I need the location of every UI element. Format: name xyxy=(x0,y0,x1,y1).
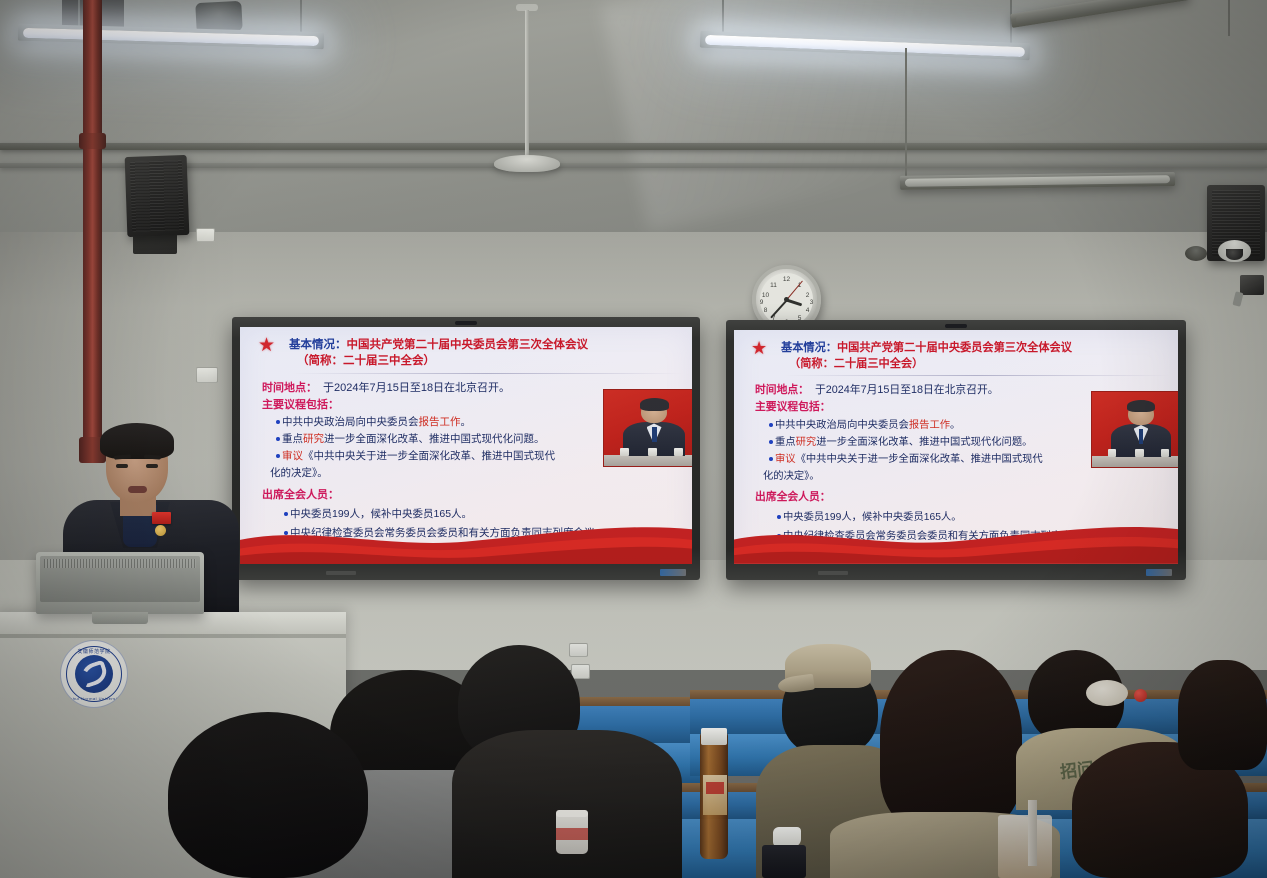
agenda-item-continuation: 化的决定》。 xyxy=(755,467,1092,482)
bullet-dot-icon xyxy=(769,423,773,427)
drink-cup-with-straw xyxy=(998,815,1052,878)
photo-cup xyxy=(620,448,629,456)
agenda-text-post: 《中共中央关于进一步全面深化改革、推进中国式现代 xyxy=(796,454,1043,465)
party-emblem-badge xyxy=(155,525,166,536)
photo-cup xyxy=(1135,449,1144,457)
tissue xyxy=(773,827,801,847)
agenda-item: 中共中央政治局向中央委员会报告工作。 xyxy=(755,416,1092,431)
slide-title-line: 基本情况：中国共产党第二十届中央委员会第三次全体会议 xyxy=(289,336,588,352)
smoke-detector xyxy=(1185,246,1207,261)
agenda-text-highlight: 报告工作 xyxy=(419,416,461,428)
presenter-mouth xyxy=(128,486,147,493)
meeting-photo xyxy=(603,389,692,467)
display-brand-logo xyxy=(660,569,686,576)
agenda-text-post: 。 xyxy=(950,420,960,431)
student-front-left-head xyxy=(168,712,368,878)
projector-mount xyxy=(494,155,560,172)
agenda-item: 审议《中共中央关于进一步全面深化改革、推进中国式现代 xyxy=(755,450,1092,465)
time-place-row: 时间地点：于2024年7月15日至18日在北京召开。 xyxy=(755,381,1092,397)
agenda-head: 主要议程包括： xyxy=(755,398,1092,414)
agenda-text-post: 《中共中央关于进一步全面深化改革、推进中国式现代 xyxy=(303,450,555,462)
agenda-text-pre: 重点 xyxy=(282,433,303,445)
monitor-vent xyxy=(44,559,196,568)
clock-center-pin xyxy=(784,297,789,302)
projector-pole xyxy=(525,10,529,158)
ceiling-beam xyxy=(0,143,1267,150)
agenda-item-continuation: 化的决定》。 xyxy=(262,465,605,480)
bullet-dot-icon xyxy=(769,457,773,461)
bullet-dot-icon xyxy=(276,454,280,458)
agenda-text-highlight: 审议 xyxy=(282,450,303,462)
agenda-text-highlight: 审议 xyxy=(775,454,796,465)
agenda-text-pre: 重点 xyxy=(775,437,796,448)
meeting-photo xyxy=(1091,391,1178,468)
slide-subtitle: （简称：二十届三中全会） xyxy=(781,355,1072,371)
red-standpipe xyxy=(83,0,102,455)
wall-outlet xyxy=(196,367,218,383)
slide-title-label: 基本情况： xyxy=(781,342,837,354)
monitor-stand xyxy=(92,612,148,624)
display-panel-left[interactable]: ★ 基本情况：中国共产党第二十届中央委员会第三次全体会议 （简称：二十届三中全会… xyxy=(232,317,700,580)
university-emblem: 安徽师范学院 Anhui Normal University xyxy=(60,640,128,708)
lecture-hall-scene: 12 1 2 3 4 5 6 7 8 9 10 11 ★ 基本情况：中国共产党第… xyxy=(0,0,1267,878)
clock-face: 12 1 2 3 4 5 6 7 8 9 10 11 xyxy=(760,273,813,326)
hair-scrunchie xyxy=(1086,680,1128,706)
smartphone[interactable] xyxy=(762,845,806,878)
presentation-slide-left: ★ 基本情况：中国共产党第二十届中央委员会第三次全体会议 （简称：二十届三中全会… xyxy=(240,327,692,564)
tube-lamp-off xyxy=(905,175,1170,187)
dome-camera xyxy=(1218,240,1251,262)
wall-outlet xyxy=(571,664,590,679)
bottle-cap xyxy=(701,728,727,745)
photo-cup xyxy=(674,448,683,456)
photo-person-hair xyxy=(1127,400,1155,412)
photo-desk xyxy=(604,455,692,466)
agenda-text-highlight: 报告工作 xyxy=(909,420,950,431)
wall-speaker xyxy=(125,155,190,237)
photo-cup xyxy=(1161,449,1170,457)
display-control-strip xyxy=(326,571,356,575)
photo-person-tie xyxy=(1139,429,1144,444)
pipe-collar xyxy=(79,133,106,149)
wall-outlet xyxy=(196,228,215,242)
drinking-straw xyxy=(1028,800,1037,866)
display-control-strip xyxy=(818,571,848,575)
agenda-text-pre: 中共中央政治局向中央委员会 xyxy=(282,416,419,428)
paper-cup-rim xyxy=(556,810,588,817)
time-place-head: 时间地点： xyxy=(262,382,317,394)
bullet-dot-icon xyxy=(276,420,280,424)
slide-title-line: 基本情况：中国共产党第二十届中央委员会第三次全体会议 xyxy=(781,339,1072,355)
agenda-head: 主要议程包括： xyxy=(262,396,605,412)
display-camera xyxy=(455,321,477,325)
bullet-dot-icon xyxy=(769,440,773,444)
podium-monitor[interactable] xyxy=(36,552,204,614)
attendees-head: 出席全会人员： xyxy=(262,486,605,502)
box-camera xyxy=(1240,275,1264,295)
time-place-head: 时间地点： xyxy=(755,384,809,396)
slide-red-wave xyxy=(734,517,1178,564)
time-place-text: 于2024年7月15日至18日在北京召开。 xyxy=(323,382,510,394)
photo-desk xyxy=(1092,456,1178,467)
time-place-row: 时间地点：于2024年7月15日至18日在北京召开。 xyxy=(262,379,605,395)
student-far-right xyxy=(1178,660,1267,770)
photo-cup xyxy=(1108,449,1117,457)
agenda-item: 中共中央政治局向中央委员会报告工作。 xyxy=(262,414,605,429)
presentation-slide-right: ★ 基本情况：中国共产党第二十届中央委员会第三次全体会议 （简称：二十届三中全会… xyxy=(734,330,1178,564)
agenda-text-post: 进一步全面深化改革、推进中国式现代化问题。 xyxy=(816,437,1032,448)
ceiling-beam xyxy=(0,163,1267,168)
title-divider xyxy=(784,375,1169,376)
agenda-item: 重点研究进一步全面深化改革、推进中国式现代化问题。 xyxy=(262,431,605,446)
student-dark-coat xyxy=(452,730,682,878)
emblem-top-text: 安徽师范学院 xyxy=(61,648,127,655)
bottle-label-accent xyxy=(706,782,724,794)
presenter-hair xyxy=(100,423,174,459)
wall-outlet xyxy=(569,643,588,657)
slide-title-main: 中国共产党第二十届中央委员会第三次全体会议 xyxy=(347,339,589,351)
podium-edge xyxy=(0,634,346,638)
photo-person-hair xyxy=(640,398,669,410)
clock-numeral-11: 11 xyxy=(747,282,800,289)
attendees-head: 出席全会人员： xyxy=(755,488,1092,504)
light-hanger xyxy=(905,48,907,176)
agenda-item: 审议《中共中央关于进一步全面深化改革、推进中国式现代 xyxy=(262,448,605,463)
display-panel-right[interactable]: ★ 基本情况：中国共产党第二十届中央委员会第三次全体会议 （简称：二十届三中全会… xyxy=(726,320,1186,580)
party-flag-badge xyxy=(152,512,171,524)
red-hair-tie xyxy=(1134,689,1147,702)
title-divider xyxy=(292,373,682,374)
agenda-item: 重点研究进一步全面深化改革、推进中国式现代化问题。 xyxy=(755,433,1092,448)
bullet-dot-icon xyxy=(276,437,280,441)
agenda-text-pre: 中共中央政治局向中央委员会 xyxy=(775,420,909,431)
agenda-text-post: 。 xyxy=(461,416,472,428)
red-star-icon: ★ xyxy=(258,336,275,355)
slide-title-label: 基本情况： xyxy=(289,339,347,351)
speaker-grill xyxy=(130,160,184,232)
slide-subtitle: （简称：二十届三中全会） xyxy=(289,352,588,368)
agenda-text-highlight: 研究 xyxy=(796,437,817,448)
photo-cup xyxy=(648,448,657,456)
agenda-text-highlight: 研究 xyxy=(303,433,324,445)
red-star-icon: ★ xyxy=(751,339,767,357)
agenda-text-post: 进一步全面深化改革、推进中国式现代化问题。 xyxy=(324,433,545,445)
time-place-text: 于2024年7月15日至18日在北京召开。 xyxy=(815,384,999,396)
slide-red-wave xyxy=(240,517,692,564)
paper-cup-band xyxy=(556,828,588,840)
presenter-eye xyxy=(146,464,158,468)
slide-title-main: 中国共产党第二十届中央委员会第三次全体会议 xyxy=(837,342,1072,354)
emblem-bottom-text: Anhui Normal University xyxy=(61,696,127,701)
clock-numeral-8: 8 xyxy=(739,307,792,314)
student-long-hair-center xyxy=(880,650,1022,830)
bottle-label xyxy=(703,775,727,815)
bullet-dot-icon xyxy=(284,512,288,516)
light-hanger xyxy=(1228,0,1230,36)
podium-top-surface xyxy=(0,612,346,634)
display-brand-logo xyxy=(1146,569,1172,576)
display-camera xyxy=(945,324,967,328)
photo-person-tie xyxy=(652,427,657,442)
presenter-eye xyxy=(116,464,128,468)
